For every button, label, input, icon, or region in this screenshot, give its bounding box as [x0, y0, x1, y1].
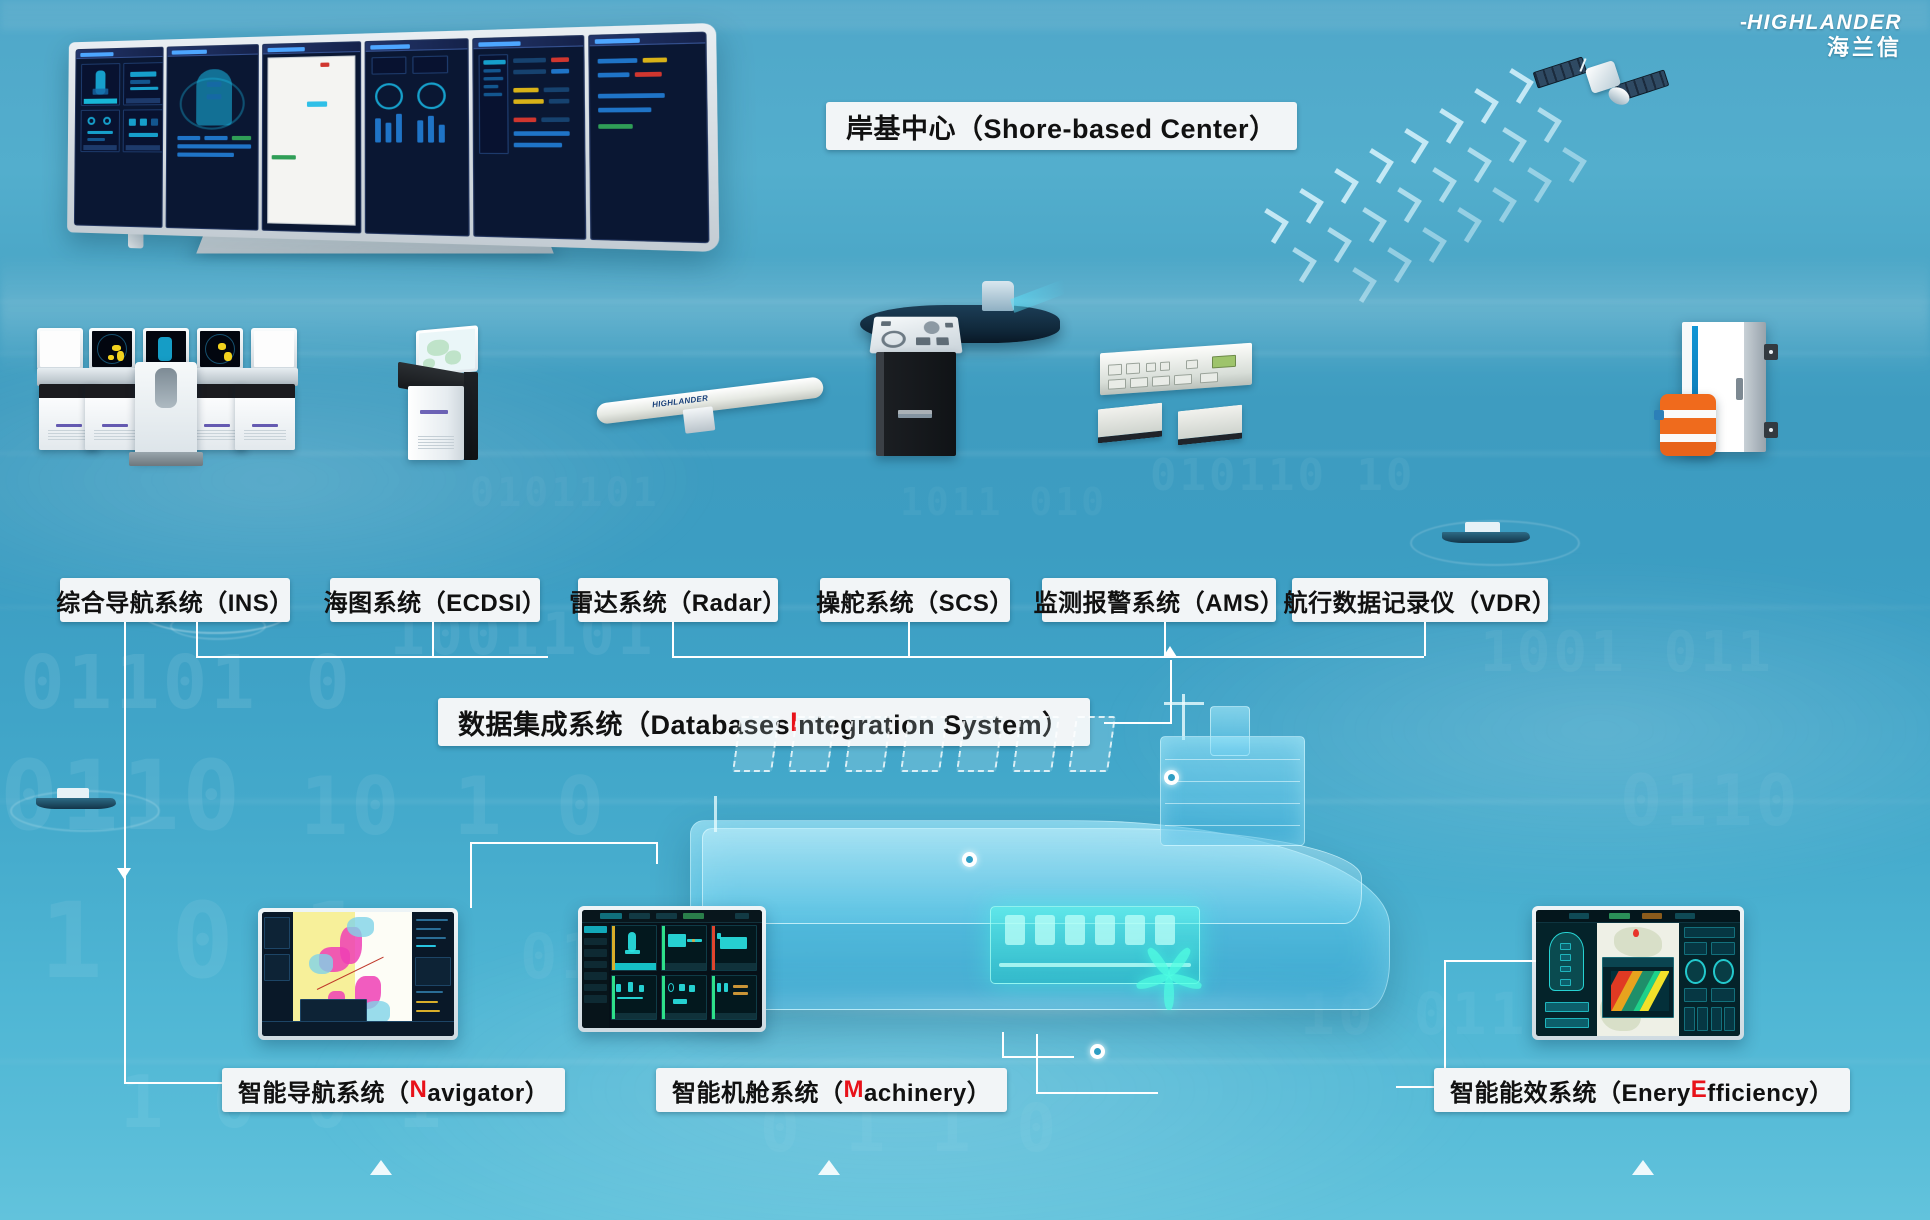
label-machinery-post: achinery） — [864, 1073, 991, 1108]
ship-node-deck[interactable] — [962, 852, 977, 867]
alarm-module-icon — [1090, 348, 1270, 458]
bridge-console-icon — [35, 328, 300, 458]
highlander-logo: -HIGHLANDER 海兰信 — [1740, 12, 1902, 59]
machinery-screenshot — [578, 906, 766, 1032]
wall-panel-fleet — [74, 47, 163, 228]
logo-en: -HIGHLANDER — [1740, 12, 1902, 33]
satellite-icon — [1530, 40, 1670, 120]
wall-panel-berthing — [165, 44, 259, 231]
section-marker — [818, 1160, 840, 1175]
connector — [908, 622, 910, 656]
energy-efficiency-screenshot — [1532, 906, 1744, 1040]
wall-panel-gauges — [364, 38, 470, 236]
wall-panel-alarms — [472, 35, 585, 240]
connector-ins-to-navigator — [124, 622, 126, 1082]
label-navigator-pre: 智能导航系统（ — [238, 1073, 410, 1108]
navigator-screenshot — [258, 908, 458, 1040]
label-radar: 雷达系统（Radar） — [578, 578, 778, 622]
logo-cn: 海兰信 — [1740, 37, 1902, 59]
shore-center-video-wall — [60, 42, 640, 277]
label-efficiency: 智能能效系统（Enery Efficiency） — [1434, 1068, 1850, 1112]
logo-dash: - — [1740, 11, 1747, 34]
wall-panel-map — [262, 41, 361, 233]
diagram-canvas: 01101 0 1001101 0110 10 1 0 1 0 1 011010… — [0, 0, 1930, 1220]
wall-panel-status — [588, 32, 710, 244]
connector — [196, 622, 198, 656]
label-efficiency-highlight: E — [1691, 1076, 1708, 1104]
radar-antenna-icon: HIGHLANDER — [596, 372, 826, 442]
connector — [124, 1082, 222, 1084]
propeller-icon — [1142, 950, 1194, 1014]
connector — [1002, 1056, 1074, 1058]
label-efficiency-pre: 智能能效系统（Enery — [1450, 1073, 1691, 1108]
connector — [1036, 1034, 1038, 1092]
connector — [656, 842, 658, 864]
video-wall-frame — [67, 23, 719, 252]
label-efficiency-post: fficiency） — [1707, 1073, 1833, 1108]
label-navigator: 智能导航系统（Navigator） — [222, 1068, 565, 1112]
steering-console-icon — [868, 312, 964, 460]
vdr-capsule-icon — [1660, 394, 1716, 456]
chart-kiosk-icon — [392, 328, 492, 460]
flow-arrow-up — [1163, 646, 1177, 657]
connector — [1444, 960, 1536, 962]
label-machinery-highlight: M — [844, 1076, 865, 1104]
section-marker — [1632, 1160, 1654, 1175]
label-navigator-post: avigator） — [427, 1073, 549, 1108]
small-vessel — [36, 788, 116, 810]
label-ams: 监测报警系统（AMS） — [1042, 578, 1276, 622]
ship-node-bridge[interactable] — [1164, 770, 1179, 785]
flow-arrow-down — [117, 868, 131, 879]
connector — [1424, 622, 1426, 656]
connector — [1002, 1032, 1004, 1058]
connector — [470, 842, 656, 844]
label-navigator-highlight: N — [410, 1076, 428, 1104]
connector — [1036, 1092, 1158, 1094]
shore-center-label: 岸基中心（Shore-based Center） — [826, 102, 1297, 150]
connector — [672, 622, 674, 656]
vdr-cabinet-icon — [1660, 322, 1790, 462]
section-marker — [370, 1160, 392, 1175]
label-machinery: 智能机舱系统（Machinery） — [656, 1068, 1007, 1112]
small-vessel — [1442, 522, 1530, 546]
label-scs: 操舵系统（SCS） — [820, 578, 1010, 622]
label-ecdis: 海图系统（ECDSI） — [330, 578, 540, 622]
connector — [432, 622, 434, 656]
connector — [672, 656, 1212, 658]
connector — [470, 842, 472, 908]
label-vdr: 航行数据记录仪（VDR） — [1292, 578, 1548, 622]
connector — [1212, 656, 1424, 658]
label-machinery-pre: 智能机舱系统（ — [672, 1073, 844, 1108]
connector — [196, 656, 548, 658]
label-ins: 综合导航系统（INS） — [60, 578, 290, 622]
ship-node-engine[interactable] — [1090, 1044, 1105, 1059]
